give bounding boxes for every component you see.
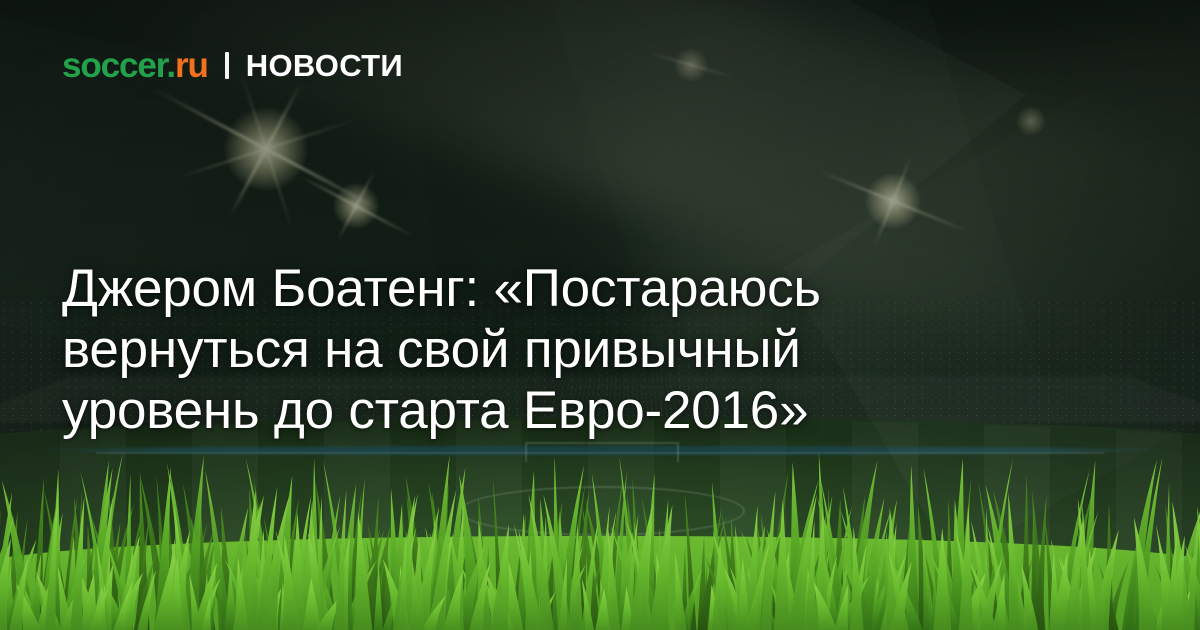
flare-ray [818, 170, 967, 232]
card-header: soccer.ru НОВОСТИ [62, 48, 403, 83]
flare-core [224, 107, 308, 191]
headline-title: Джером Боатенг: «Постараюсь вернуться на… [62, 258, 962, 441]
soccer-ru-logo[interactable]: soccer.ru [62, 48, 208, 83]
logo-tld-text: ru [175, 46, 208, 85]
flare-core [1016, 106, 1046, 136]
header-divider [225, 52, 229, 79]
pitch-goal-box [525, 442, 679, 462]
flare-ray [647, 51, 734, 78]
flare-core [865, 173, 921, 229]
floodlight-flare-icon [690, 64, 691, 65]
flare-ray [229, 82, 302, 216]
flare-ray [150, 86, 381, 211]
news-share-card: soccer.ru НОВОСТИ Джером Боатенг: «Поста… [0, 0, 1200, 630]
floodlight-flare-icon [1030, 120, 1031, 121]
flare-ray [299, 175, 413, 237]
logo-name-text: soccer [62, 46, 166, 85]
flare-ray [238, 67, 292, 229]
headline-line-2: вернуться на свой привычный [62, 319, 962, 380]
flare-ray [874, 156, 912, 246]
section-label-news: НОВОСТИ [246, 50, 403, 81]
logo-dot-text: . [166, 46, 175, 85]
floodlight-flare-icon [892, 200, 893, 201]
flare-ray [337, 171, 374, 239]
flare-core [333, 183, 379, 229]
floodlight-flare-icon [355, 205, 356, 206]
headline-line-3: уровень до старта Евро-2016» [62, 380, 962, 441]
floodlight-flare-icon [265, 148, 266, 149]
headline-line-1: Джером Боатенг: «Постараюсь [62, 258, 962, 319]
flare-core [674, 48, 708, 82]
flare-ray [175, 118, 356, 179]
pitch-near-arc [390, 558, 814, 630]
pitch-centre-circle [459, 486, 745, 536]
